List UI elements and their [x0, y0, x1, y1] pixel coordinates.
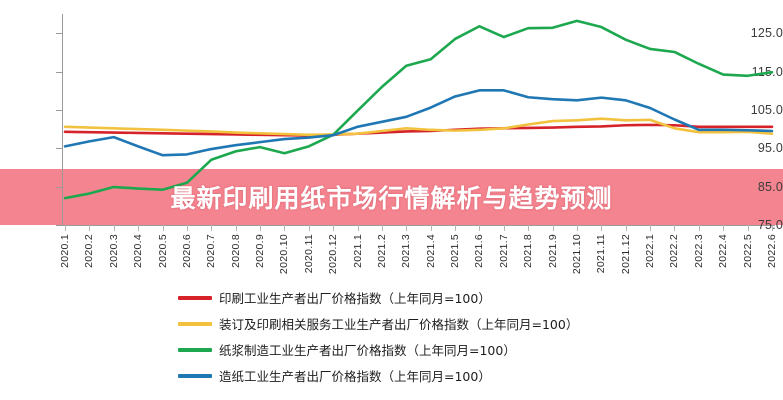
legend-label: 印刷工业生产者出厂价格指数（上年同月=100） — [219, 288, 491, 307]
legend-label: 纸浆制造工业生产者出厂价格指数（上年同月=100） — [219, 340, 516, 359]
x-tick-mark — [431, 225, 432, 231]
x-tick-mark — [114, 225, 115, 231]
x-tick-label: 2021.8 — [522, 234, 534, 268]
x-tick-label: 2021.6 — [473, 234, 485, 268]
x-tick-mark — [699, 225, 700, 231]
legend-swatch-icon — [178, 348, 212, 352]
x-tick-label: 2022.5 — [742, 234, 754, 268]
x-tick-mark — [553, 225, 554, 231]
x-tick-label: 2021.9 — [547, 234, 559, 268]
legend-label: 装订及印刷相关服务工业生产者出厂价格指数（上年同月=100） — [219, 314, 578, 333]
x-tick-label: 2020.4 — [132, 234, 144, 268]
x-tick-label: 2020.3 — [108, 234, 120, 268]
series-lines — [62, 14, 775, 225]
x-tick-label: 2020.2 — [83, 234, 95, 268]
x-tick-mark — [65, 225, 66, 231]
x-tick-label: 2022.1 — [644, 234, 656, 268]
x-tick-mark — [382, 225, 383, 231]
x-tick-label: 2020.1 — [59, 234, 71, 268]
series-line-3 — [65, 90, 772, 155]
series-line-2 — [65, 21, 772, 198]
x-tick-label: 2020.7 — [205, 234, 217, 268]
x-tick-mark — [260, 225, 261, 231]
x-tick-label: 2020.10 — [278, 234, 290, 274]
x-tick-mark — [406, 225, 407, 231]
x-tick-mark — [455, 225, 456, 231]
x-tick-mark — [187, 225, 188, 231]
y-tick-mark — [56, 225, 62, 226]
x-tick-label: 2022.4 — [717, 234, 729, 268]
x-tick-label: 2020.9 — [254, 234, 266, 268]
x-tick-mark — [138, 225, 139, 231]
x-tick-label: 2020.11 — [303, 234, 315, 273]
line-chart: 75.085.095.0105.0115.0125.0 2020.12020.2… — [0, 0, 783, 285]
x-tick-label: 2020.8 — [230, 234, 242, 268]
legend-label: 造纸工业生产者出厂价格指数（上年同月=100） — [219, 366, 491, 385]
x-tick-mark — [650, 225, 651, 231]
x-tick-mark — [674, 225, 675, 231]
legend-item[interactable]: 纸浆制造工业生产者出厂价格指数（上年同月=100） — [178, 340, 516, 359]
legend-swatch-icon — [178, 374, 212, 378]
x-tick-mark — [528, 225, 529, 231]
x-tick-label: 2020.12 — [327, 234, 339, 274]
x-tick-label: 2021.2 — [376, 234, 388, 268]
x-tick-label: 2021.7 — [498, 234, 510, 268]
x-tick-label: 2021.1 — [352, 234, 364, 268]
legend-item[interactable]: 装订及印刷相关服务工业生产者出厂价格指数（上年同月=100） — [178, 314, 578, 333]
x-tick-mark — [163, 225, 164, 231]
x-tick-label: 2021.10 — [571, 234, 583, 274]
x-tick-mark — [601, 225, 602, 231]
x-tick-label: 2021.3 — [400, 234, 412, 268]
x-tick-label: 2022.2 — [668, 234, 680, 268]
x-tick-label: 2022.6 — [766, 234, 778, 268]
x-tick-mark — [577, 225, 578, 231]
legend-swatch-icon — [178, 296, 212, 300]
x-tick-label: 2020.5 — [157, 234, 169, 268]
x-tick-mark — [309, 225, 310, 231]
x-axis — [62, 225, 775, 226]
x-tick-mark — [284, 225, 285, 231]
x-tick-mark — [333, 225, 334, 231]
legend-item[interactable]: 造纸工业生产者出厂价格指数（上年同月=100） — [178, 366, 491, 385]
x-tick-label: 2021.4 — [425, 234, 437, 268]
x-tick-mark — [772, 225, 773, 231]
x-tick-mark — [504, 225, 505, 231]
chart-page: 75.085.095.0105.0115.0125.0 2020.12020.2… — [0, 0, 783, 400]
x-tick-mark — [89, 225, 90, 231]
legend-swatch-icon — [178, 322, 212, 326]
chart-legend: 印刷工业生产者出厂价格指数（上年同月=100）装订及印刷相关服务工业生产者出厂价… — [0, 288, 783, 385]
x-tick-label: 2022.3 — [693, 234, 705, 268]
x-tick-mark — [626, 225, 627, 231]
x-tick-mark — [358, 225, 359, 231]
x-tick-mark — [748, 225, 749, 231]
legend-item[interactable]: 印刷工业生产者出厂价格指数（上年同月=100） — [178, 288, 491, 307]
x-tick-mark — [236, 225, 237, 231]
x-tick-mark — [211, 225, 212, 231]
x-tick-label: 2021.5 — [449, 234, 461, 268]
x-tick-label: 2021.11 — [595, 234, 607, 273]
x-tick-mark — [723, 225, 724, 231]
x-tick-mark — [479, 225, 480, 231]
x-tick-label: 2020.6 — [181, 234, 193, 268]
x-tick-label: 2021.12 — [620, 234, 632, 274]
